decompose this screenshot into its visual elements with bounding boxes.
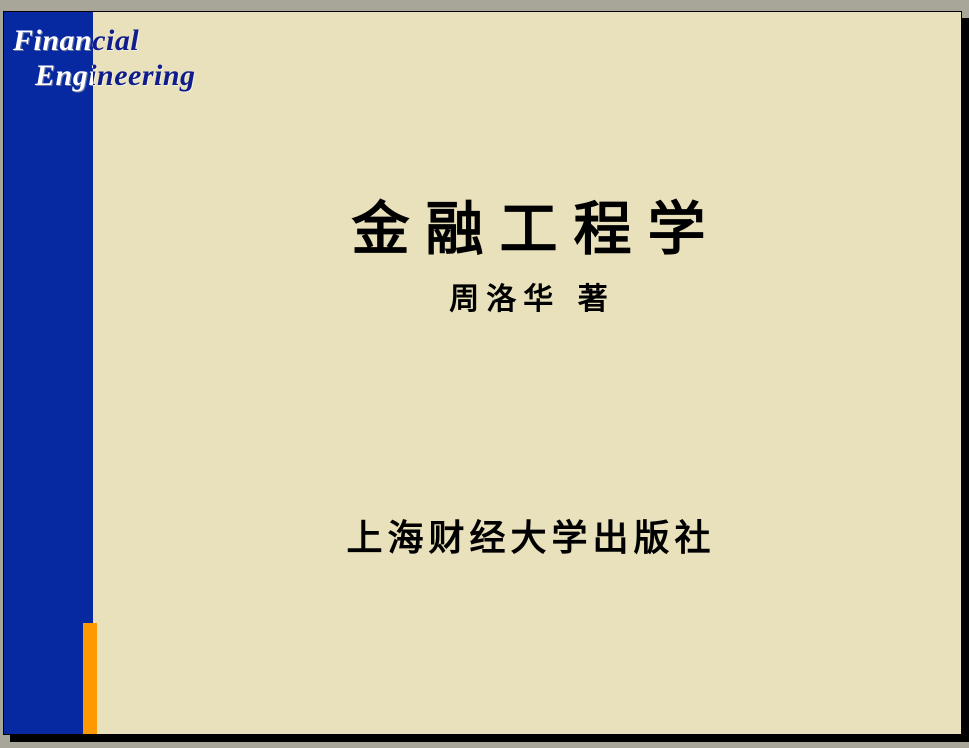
publisher-name: 上海财经大学出版社 — [96, 509, 961, 561]
screen-canvas: Financial Engineering Financial Engineer… — [0, 0, 969, 748]
orange-accent-bar — [83, 623, 97, 734]
left-blue-accent-band — [4, 12, 93, 734]
book-author: 周洛华 著 — [96, 274, 961, 318]
brand-line-2: Engineering — [35, 58, 443, 93]
book-title: 金融工程学 — [96, 182, 961, 266]
presentation-slide[interactable]: Financial Engineering Financial Engineer… — [3, 11, 962, 735]
